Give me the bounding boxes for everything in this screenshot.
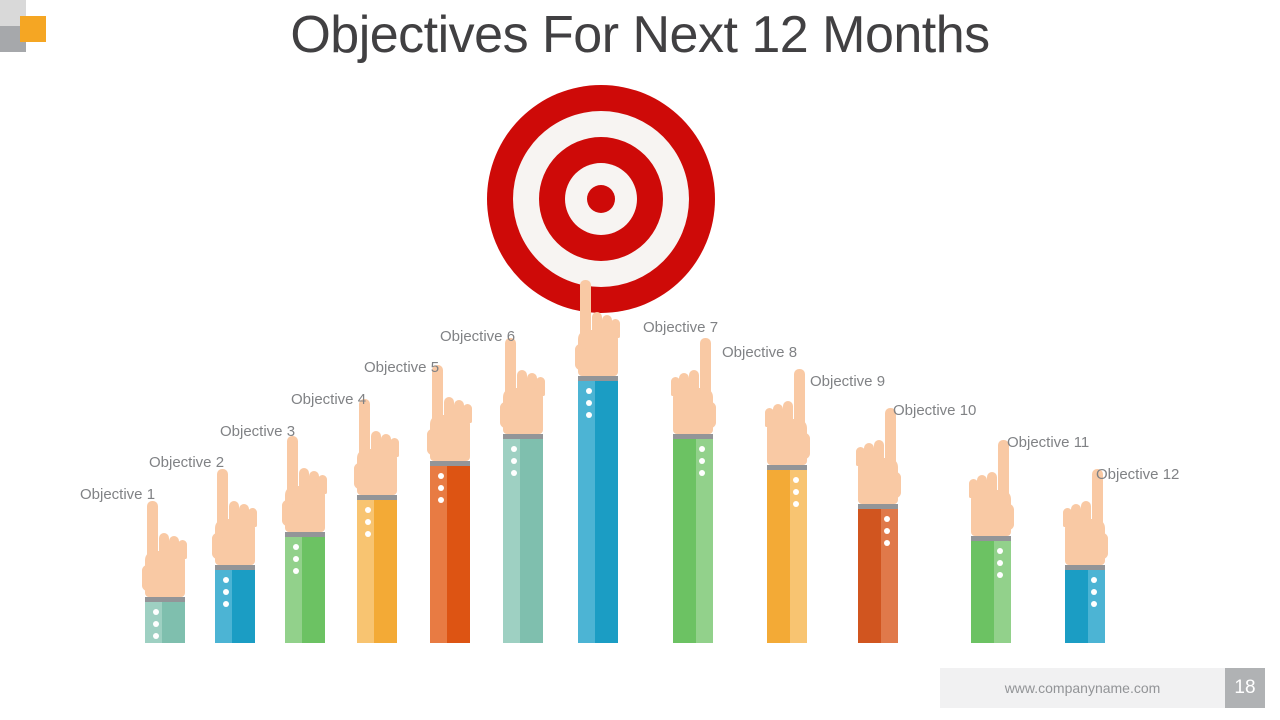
- sleeve-buttons: [586, 388, 592, 424]
- raised-hand-icon: [574, 290, 622, 376]
- target-bullseye: [587, 185, 615, 213]
- raised-hand-icon: [141, 511, 189, 597]
- sleeve-bar[interactable]: [767, 465, 807, 643]
- objective-bar[interactable]: [1065, 479, 1105, 643]
- footer: www.companyname.com 18: [940, 668, 1265, 708]
- sleeve-bar[interactable]: [858, 504, 898, 643]
- raised-hand-icon: [854, 418, 902, 504]
- sleeve-cuff: [357, 495, 397, 500]
- objective-bar[interactable]: [285, 446, 325, 643]
- sleeve-buttons: [293, 544, 299, 580]
- objective-bar[interactable]: [858, 418, 898, 643]
- slide-canvas: Objectives For Next 12 Months Objective …: [0, 0, 1280, 720]
- sleeve-buttons: [793, 477, 799, 513]
- thumb: [575, 344, 586, 370]
- sleeve-bar[interactable]: [357, 495, 397, 643]
- thumb: [282, 500, 293, 526]
- objective-bar[interactable]: [673, 348, 713, 643]
- sleeve-buttons: [997, 548, 1003, 584]
- sleeve-cuff: [285, 532, 325, 537]
- objective-label: Objective 8: [722, 344, 797, 362]
- raised-hand-icon: [353, 409, 401, 495]
- thumb: [500, 402, 511, 428]
- sleeve-bar[interactable]: [1065, 565, 1105, 643]
- objective-bar[interactable]: [430, 375, 470, 643]
- thumb: [354, 463, 365, 489]
- page-title: Objectives For Next 12 Months: [0, 4, 1280, 66]
- sleeve-cuff: [673, 434, 713, 439]
- sleeve-cuff: [1065, 565, 1105, 570]
- sleeve-cuff: [858, 504, 898, 509]
- footer-website[interactable]: www.companyname.com: [940, 668, 1225, 708]
- thumb: [1097, 533, 1108, 559]
- sleeve-buttons: [511, 446, 517, 482]
- raised-hand-icon: [281, 446, 329, 532]
- objective-bar[interactable]: [971, 450, 1011, 643]
- sleeve-cuff: [503, 434, 543, 439]
- objective-bar[interactable]: [767, 379, 807, 643]
- sleeve-bar[interactable]: [145, 597, 185, 643]
- sleeve-buttons: [223, 577, 229, 613]
- thumb: [1003, 504, 1014, 530]
- objective-label: Objective 12: [1096, 466, 1179, 484]
- raised-hand-icon: [426, 375, 474, 461]
- thumb: [890, 472, 901, 498]
- raised-hand-icon: [211, 479, 259, 565]
- objective-label: Objective 5: [364, 359, 439, 377]
- objective-label: Objective 11: [1007, 434, 1089, 452]
- raised-hand-icon: [499, 348, 547, 434]
- bullseye-target-icon: [487, 85, 715, 313]
- sleeve-bar[interactable]: [285, 532, 325, 643]
- sleeve-cuff: [430, 461, 470, 466]
- objective-label: Objective 6: [440, 328, 515, 346]
- objective-label: Objective 2: [149, 454, 224, 472]
- objective-bar[interactable]: [578, 290, 618, 643]
- objective-label: Objective 10: [893, 402, 976, 420]
- objective-label: Objective 7: [643, 319, 718, 337]
- raised-hand-icon: [967, 450, 1015, 536]
- objective-bar[interactable]: [215, 479, 255, 643]
- page-number-badge: 18: [1225, 668, 1265, 708]
- sleeve-bar[interactable]: [430, 461, 470, 643]
- thumb: [427, 429, 438, 455]
- thumb: [212, 533, 223, 559]
- sleeve-bar[interactable]: [673, 434, 713, 643]
- sleeve-bar[interactable]: [578, 376, 618, 643]
- sleeve-cuff: [971, 536, 1011, 541]
- sleeve-buttons: [1091, 577, 1097, 613]
- sleeve-buttons: [438, 473, 444, 509]
- thumb: [705, 402, 716, 428]
- raised-hand-icon: [763, 379, 811, 465]
- sleeve-buttons: [153, 609, 159, 645]
- sleeve-buttons: [884, 516, 890, 552]
- sleeve-cuff: [578, 376, 618, 381]
- raised-hand-icon: [669, 348, 717, 434]
- thumb: [142, 565, 153, 591]
- objective-bar[interactable]: [145, 511, 185, 643]
- sleeve-cuff: [215, 565, 255, 570]
- sleeve-cuff: [767, 465, 807, 470]
- objective-label: Objective 4: [291, 391, 366, 409]
- sleeve-bar[interactable]: [971, 536, 1011, 643]
- sleeve-bar[interactable]: [215, 565, 255, 643]
- thumb: [799, 433, 810, 459]
- sleeve-buttons: [365, 507, 371, 543]
- objective-label: Objective 9: [810, 373, 885, 391]
- objective-label: Objective 1: [80, 486, 155, 504]
- sleeve-buttons: [699, 446, 705, 482]
- sleeve-bar[interactable]: [503, 434, 543, 643]
- objective-label: Objective 3: [220, 423, 295, 441]
- sleeve-cuff: [145, 597, 185, 602]
- objective-bar[interactable]: [357, 409, 397, 643]
- raised-hand-icon: [1061, 479, 1109, 565]
- objective-bar[interactable]: [503, 348, 543, 643]
